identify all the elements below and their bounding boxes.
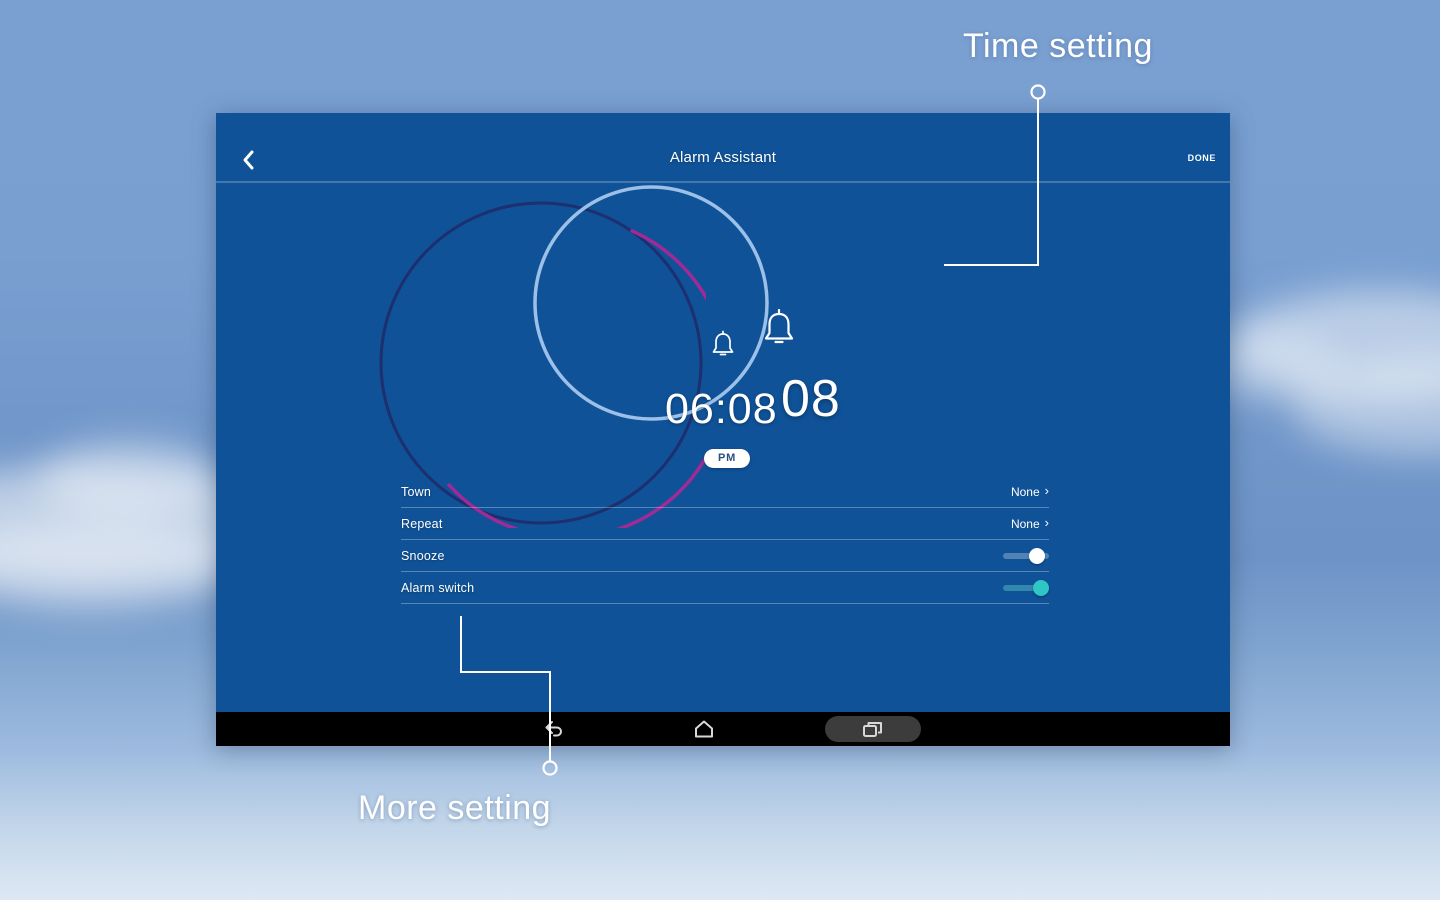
cloud-right-2 [1290, 360, 1440, 455]
setting-row-repeat[interactable]: Repeat None › [401, 508, 1049, 540]
page-title: Alarm Assistant [216, 149, 1230, 166]
alarm-time-zoomed: 08 [781, 369, 841, 429]
time-setting-area[interactable]: 06:08 08 PM [216, 183, 1230, 503]
more-setting-list: Town None › Repeat None › Snooze [401, 476, 1049, 604]
alarm-time-main: 06:08 [665, 385, 778, 434]
setting-label: Town [401, 485, 431, 499]
screenshot-stage: Alarm Assistant DONE [0, 0, 1440, 900]
setting-row-snooze[interactable]: Snooze [401, 540, 1049, 572]
recents-icon [862, 720, 884, 739]
setting-value: None [1011, 517, 1040, 531]
toggle-knob [1033, 580, 1049, 596]
alarm-app-screen: Alarm Assistant DONE [216, 113, 1230, 712]
android-nav-bar [216, 712, 1230, 746]
bell-icon-large [761, 308, 797, 350]
tablet-device: Alarm Assistant DONE [216, 113, 1230, 746]
setting-row-alarm-switch[interactable]: Alarm switch [401, 572, 1049, 604]
chevron-right-icon: › [1045, 484, 1049, 497]
toggle-knob [1029, 548, 1045, 564]
setting-label: Repeat [401, 517, 443, 531]
nav-home-button[interactable] [675, 716, 733, 742]
snooze-toggle[interactable] [1003, 548, 1049, 564]
setting-value-group[interactable]: None › [1011, 485, 1049, 499]
cloud-left-2 [0, 520, 240, 610]
setting-label: Snooze [401, 549, 445, 563]
alarm-switch-toggle[interactable] [1003, 580, 1049, 596]
setting-label: Alarm switch [401, 581, 474, 595]
back-arrow-icon [543, 720, 565, 738]
chevron-right-icon: › [1045, 516, 1049, 529]
nav-back-button[interactable] [525, 716, 583, 742]
cloud-right-1 [1230, 290, 1440, 400]
setting-row-town[interactable]: Town None › [401, 476, 1049, 508]
bell-icon-small [710, 330, 736, 360]
cloud-left-3 [40, 440, 220, 520]
callout-label-more-setting: More setting [358, 789, 551, 828]
home-icon [693, 719, 715, 739]
setting-value-group[interactable]: None › [1011, 517, 1049, 531]
callout-label-time-setting: Time setting [963, 27, 1153, 66]
setting-value: None [1011, 485, 1040, 499]
done-button[interactable]: DONE [1188, 153, 1216, 163]
meridiem-badge[interactable]: PM [704, 449, 750, 468]
nav-recents-button[interactable] [825, 716, 921, 742]
app-bar: Alarm Assistant DONE [216, 113, 1230, 183]
